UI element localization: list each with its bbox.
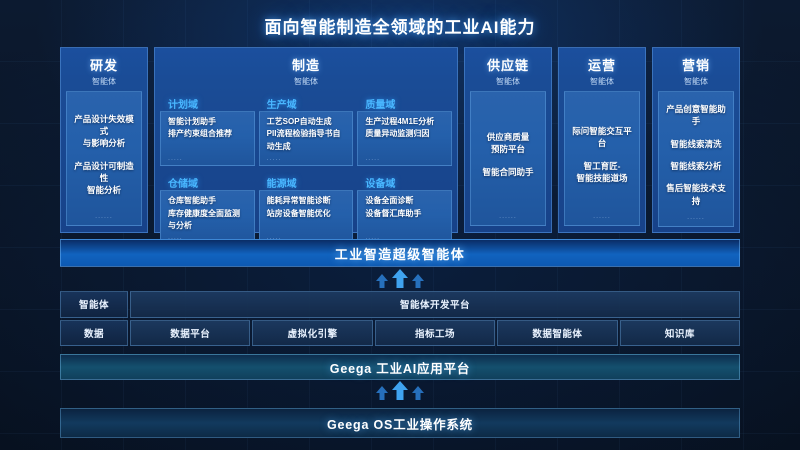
domain-label: 计划域 — [168, 96, 198, 111]
domain-card-warehouse[interactable]: 仓储域 仓库智能助手 库存健康度全面监测与分析 ..... — [160, 190, 255, 245]
diagram-stage: 面向智能制造全领域的工业AI能力 研发 智能体 产品设计失效模式与影响分析 产品… — [0, 0, 800, 450]
agent-column-operations-title: 运营 — [559, 55, 645, 74]
platform-table-row-agent: 智能体 智能体开发平台 — [60, 291, 740, 318]
agent-column-manufacturing-subtitle: 智能体 — [155, 76, 457, 87]
agent-column-supply-chain-title: 供应链 — [465, 55, 551, 74]
page-title: 面向智能制造全领域的工业AI能力 — [0, 13, 800, 38]
domain-item[interactable]: 站房设备智能优化 — [267, 208, 346, 220]
arrow-up-icon — [392, 381, 408, 400]
manufacturing-domain-row: 计划域 智能计划助手 排产约束组合推荐 ..... 生产域 工艺SOP自动生成 … — [160, 111, 452, 166]
domain-item[interactable]: 库存健康度全面监测与分析 — [168, 208, 247, 233]
domain-item[interactable]: 设备全面诊断 — [365, 195, 444, 207]
arrow-up-icon — [412, 274, 424, 288]
agent-column-rd-title: 研发 — [61, 55, 147, 74]
agent-item[interactable]: 产品创意智能助手 — [663, 103, 729, 128]
super-agent-bar[interactable]: 工业智造超级智能体 — [60, 239, 740, 267]
agent-column-marketing-dots: ...... — [659, 214, 733, 221]
agent-column-manufacturing-header: 制造 智能体 — [155, 48, 457, 91]
agent-item[interactable]: 智能线索清洗 — [670, 138, 721, 150]
arrow-group-upper — [370, 270, 430, 288]
agent-capability-band: 研发 智能体 产品设计失效模式与影响分析 产品设计可制造性智能分析 ......… — [60, 47, 740, 233]
platform-cell-data-platform[interactable]: 数据平台 — [130, 320, 250, 347]
agent-column-marketing-header: 营销 智能体 — [653, 48, 739, 91]
arrow-up-icon — [376, 274, 388, 288]
manufacturing-domain-grid: 计划域 智能计划助手 排产约束组合推荐 ..... 生产域 工艺SOP自动生成 … — [160, 91, 452, 245]
platform-cell-knowledge-base[interactable]: 知识库 — [620, 320, 740, 347]
arrow-group-lower — [370, 382, 430, 400]
agent-column-operations-body: 际问智能交互平台 智工育匠-智能技能道场 ...... — [564, 91, 640, 226]
platform-cell-metric-factory[interactable]: 指标工场 — [375, 320, 495, 347]
domain-item[interactable]: 设备督汇库助手 — [365, 208, 444, 220]
agent-column-supply-chain[interactable]: 供应链 智能体 供应商质量预防平台 智能合同助手 ...... — [464, 47, 552, 233]
domain-dots: ..... — [267, 155, 282, 162]
agent-item[interactable]: 产品设计可制造性智能分析 — [71, 160, 137, 197]
agent-item[interactable]: 智工育匠-智能技能道场 — [576, 160, 627, 185]
platform-row-label-data: 数据 — [60, 320, 128, 347]
agent-column-rd-dots: ...... — [67, 213, 141, 220]
agent-item[interactable]: 供应商质量预防平台 — [487, 131, 530, 156]
agent-item[interactable]: 售后智能技术支持 — [663, 182, 729, 207]
domain-card-energy[interactable]: 能源域 能耗异常智能诊断 站房设备智能优化 ..... — [259, 190, 354, 245]
agent-item[interactable]: 际问智能交互平台 — [569, 125, 635, 150]
domain-item[interactable]: 排产约束组合推荐 — [168, 128, 247, 140]
manufacturing-domain-row: 仓储域 仓库智能助手 库存健康度全面监测与分析 ..... 能源域 能耗异常智能… — [160, 190, 452, 245]
domain-item[interactable]: 工艺SOP自动生成 — [267, 116, 346, 128]
platform-cell-data-agent[interactable]: 数据智能体 — [497, 320, 617, 347]
platform-cell-agent-dev[interactable]: 智能体开发平台 — [130, 291, 740, 318]
geega-app-platform-bar[interactable]: Geega 工业AI应用平台 — [60, 354, 740, 380]
geega-os-bar[interactable]: Geega OS工业操作系统 — [60, 408, 740, 438]
platform-cell-virtualization-engine[interactable]: 虚拟化引擎 — [252, 320, 372, 347]
agent-column-operations-dots: ...... — [565, 213, 639, 220]
platform-table-row-data: 数据 数据平台 虚拟化引擎 指标工场 数据智能体 知识库 — [60, 320, 740, 347]
agent-column-rd[interactable]: 研发 智能体 产品设计失效模式与影响分析 产品设计可制造性智能分析 ...... — [60, 47, 148, 233]
platform-table: 智能体 智能体开发平台 数据 数据平台 虚拟化引擎 指标工场 数据智能体 知识库 — [60, 291, 740, 346]
agent-column-marketing-title: 营销 — [653, 55, 739, 74]
domain-card-equipment[interactable]: 设备域 设备全面诊断 设备督汇库助手 ..... — [357, 190, 452, 245]
agent-column-rd-subtitle: 智能体 — [61, 76, 147, 87]
domain-item[interactable]: 智能计划助手 — [168, 116, 247, 128]
agent-column-operations[interactable]: 运营 智能体 际问智能交互平台 智工育匠-智能技能道场 ...... — [558, 47, 646, 233]
arrow-up-icon — [376, 386, 388, 400]
agent-column-rd-header: 研发 智能体 — [61, 48, 147, 91]
agent-item[interactable]: 智能线索分析 — [670, 160, 721, 172]
domain-label: 质量域 — [365, 96, 395, 111]
agent-item[interactable]: 智能合同助手 — [482, 166, 533, 178]
domain-item[interactable]: 能耗异常智能诊断 — [267, 195, 346, 207]
agent-column-marketing-subtitle: 智能体 — [653, 76, 739, 87]
agent-column-rd-body: 产品设计失效模式与影响分析 产品设计可制造性智能分析 ...... — [66, 91, 142, 226]
domain-item[interactable]: PII流程检验指导书自动生成 — [267, 128, 346, 153]
platform-row-label-agent: 智能体 — [60, 291, 128, 318]
domain-card-production[interactable]: 生产域 工艺SOP自动生成 PII流程检验指导书自动生成 ..... — [259, 111, 354, 166]
agent-column-supply-chain-header: 供应链 智能体 — [465, 48, 551, 91]
domain-item[interactable]: 仓库智能助手 — [168, 195, 247, 207]
arrow-up-icon — [412, 386, 424, 400]
domain-dots: ..... — [365, 155, 380, 162]
domain-card-quality[interactable]: 质量域 生产过程4M1E分析 质量异动监测归因 ..... — [357, 111, 452, 166]
agent-column-supply-chain-dots: ...... — [471, 213, 545, 220]
domain-item[interactable]: 质量异动监测归因 — [365, 128, 444, 140]
agent-column-manufacturing-title: 制造 — [155, 55, 457, 74]
domain-label: 生产域 — [267, 96, 297, 111]
agent-column-supply-chain-subtitle: 智能体 — [465, 76, 551, 87]
domain-dots: ..... — [168, 155, 183, 162]
domain-label: 设备域 — [365, 175, 395, 190]
domain-label: 仓储域 — [168, 175, 198, 190]
agent-column-operations-subtitle: 智能体 — [559, 76, 645, 87]
domain-card-plan[interactable]: 计划域 智能计划助手 排产约束组合推荐 ..... — [160, 111, 255, 166]
arrow-up-icon — [392, 269, 408, 288]
domain-item[interactable]: 生产过程4M1E分析 — [365, 116, 444, 128]
agent-column-manufacturing[interactable]: 制造 智能体 计划域 智能计划助手 排产约束组合推荐 ..... 生产域 工艺S… — [154, 47, 458, 233]
agent-column-supply-chain-body: 供应商质量预防平台 智能合同助手 ...... — [470, 91, 546, 226]
domain-label: 能源域 — [267, 175, 297, 190]
agent-column-marketing-body: 产品创意智能助手 智能线索清洗 智能线索分析 售后智能技术支持 ...... — [658, 91, 734, 227]
agent-item[interactable]: 产品设计失效模式与影响分析 — [71, 113, 137, 150]
agent-column-operations-header: 运营 智能体 — [559, 48, 645, 91]
agent-column-marketing[interactable]: 营销 智能体 产品创意智能助手 智能线索清洗 智能线索分析 售后智能技术支持 .… — [652, 47, 740, 233]
